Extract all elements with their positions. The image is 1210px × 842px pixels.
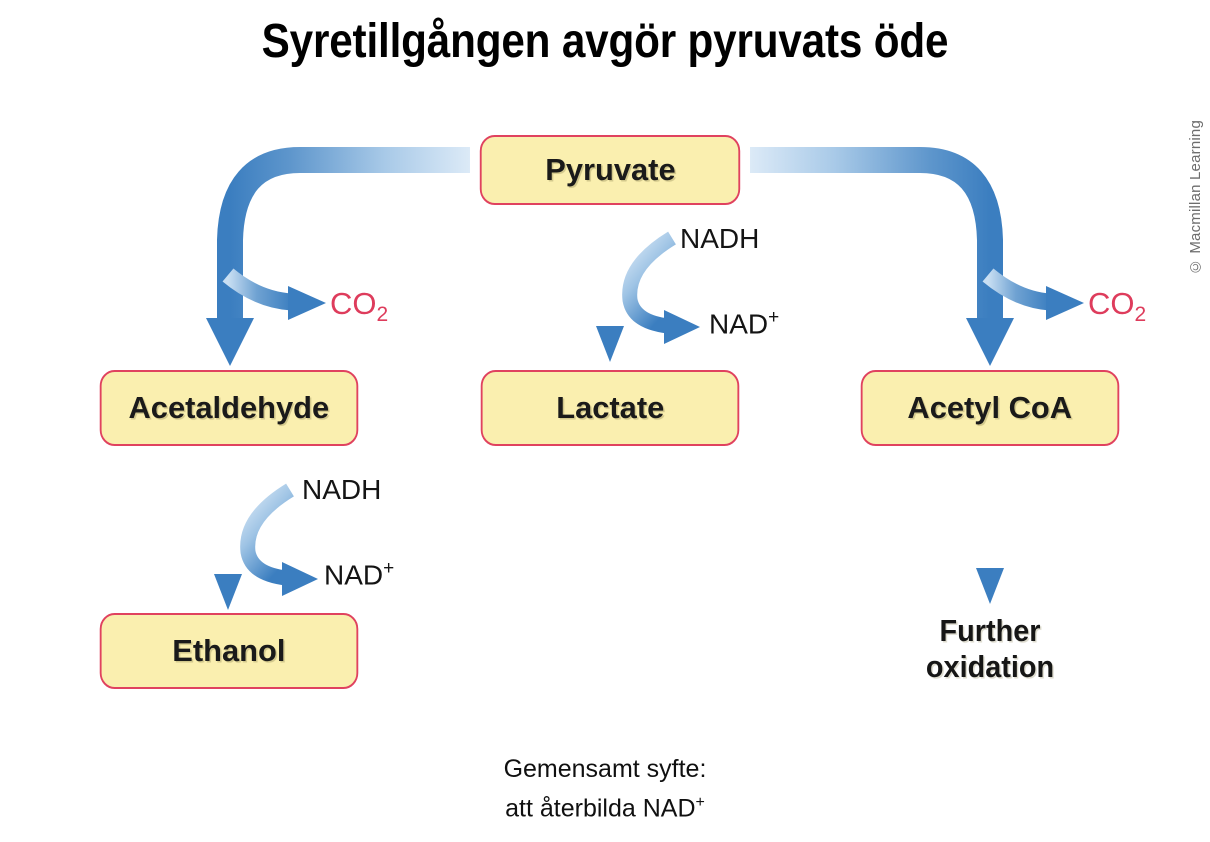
node-ethanol[interactable]: Ethanol bbox=[100, 613, 359, 689]
node-lactate[interactable]: Lactate bbox=[481, 370, 740, 446]
arrow-acetylcoa-to-further-oxidation bbox=[976, 444, 1004, 604]
label-nadplus-lactate-text: NAD bbox=[709, 308, 768, 339]
arrow-pyruvate-to-lactate bbox=[596, 202, 624, 362]
label-nadplus-lactate-sup: + bbox=[768, 307, 779, 328]
label-co2-left-sub: 2 bbox=[377, 303, 389, 326]
label-co2-right-text: CO bbox=[1088, 286, 1135, 321]
node-acetyl-coa[interactable]: Acetyl CoA bbox=[861, 370, 1120, 446]
label-co2-left-text: CO bbox=[330, 286, 377, 321]
label-nadplus-lactate: NAD+ bbox=[709, 307, 779, 340]
label-nadplus-ethanol-text: NAD bbox=[324, 559, 383, 590]
label-further-oxidation-line1: Further bbox=[940, 613, 1041, 648]
arrow-pyruvate-to-acetaldehyde bbox=[206, 160, 470, 366]
node-acetyl-coa-label: Acetyl CoA bbox=[908, 390, 1073, 426]
label-nadh-ethanol: NADH bbox=[302, 474, 381, 506]
label-nadh-ethanol-text: NADH bbox=[302, 474, 381, 505]
node-ethanol-label: Ethanol bbox=[172, 633, 285, 669]
node-lactate-label: Lactate bbox=[556, 390, 664, 426]
node-acetaldehyde[interactable]: Acetaldehyde bbox=[100, 370, 359, 446]
copyright-notice: © Macmillan Learning bbox=[1187, 120, 1204, 275]
label-co2-left: CO2 bbox=[330, 286, 388, 327]
label-nadh-lactate-text: NADH bbox=[680, 223, 759, 254]
caption-line-2: att återbilda NAD+ bbox=[0, 786, 1210, 825]
label-co2-right-sub: 2 bbox=[1135, 303, 1147, 326]
label-further-oxidation-line2: oxidation bbox=[926, 649, 1054, 684]
diagram-canvas: Syretillgången avgör pyruvats öde bbox=[0, 0, 1210, 842]
caption-line-1: Gemensamt syfte: bbox=[0, 752, 1210, 786]
node-acetaldehyde-label: Acetaldehyde bbox=[129, 390, 330, 426]
label-nadplus-ethanol-sup: + bbox=[383, 558, 394, 579]
caption: Gemensamt syfte: att återbilda NAD+ bbox=[0, 752, 1210, 825]
node-pyruvate[interactable]: Pyruvate bbox=[480, 135, 740, 205]
label-nadplus-ethanol: NAD+ bbox=[324, 558, 394, 591]
label-co2-right: CO2 bbox=[1088, 286, 1146, 327]
caption-line-2-sup: + bbox=[696, 794, 705, 811]
label-nadh-lactate: NADH bbox=[680, 223, 759, 255]
arrow-pyruvate-to-acetylcoa bbox=[750, 160, 1014, 366]
caption-line-2-text: att återbilda NAD bbox=[505, 794, 695, 822]
label-further-oxidation: Further oxidation bbox=[878, 613, 1101, 685]
node-pyruvate-label: Pyruvate bbox=[545, 152, 675, 188]
arrow-acetaldehyde-to-ethanol bbox=[214, 444, 242, 610]
